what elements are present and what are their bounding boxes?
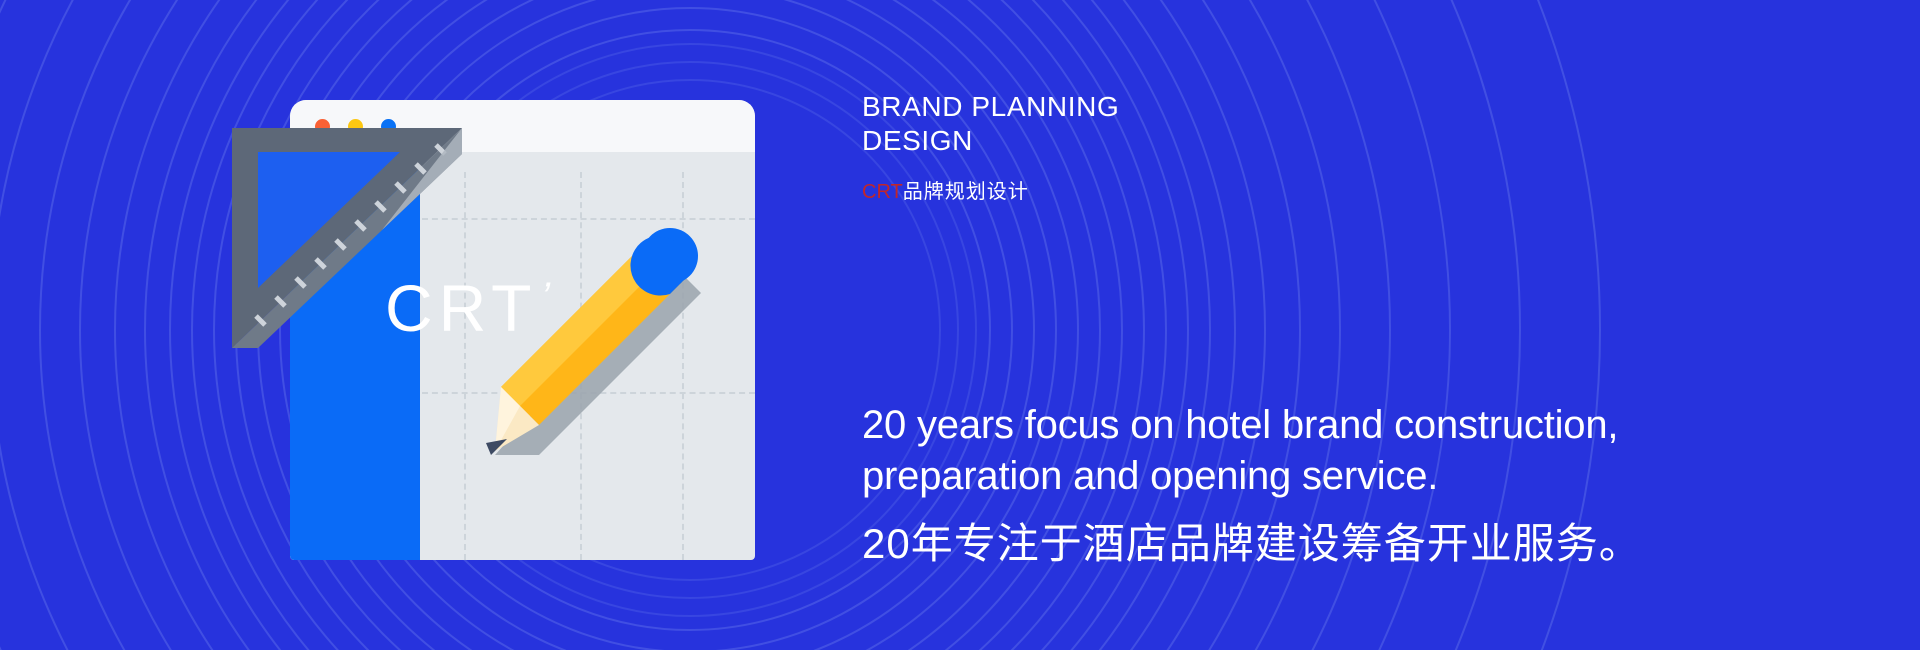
eyebrow-chinese-text: 品牌规划设计 <box>903 181 1029 203</box>
eyebrow-line-1: BRAND PLANNING <box>862 90 1292 124</box>
headline-line-1: 20 years focus on hotel brand constructi… <box>862 400 1692 451</box>
pencil-illustration <box>455 215 715 465</box>
headline-line-2: preparation and opening service. <box>862 451 1692 502</box>
set-square-ruler <box>232 128 462 348</box>
eyebrow-line-2: DESIGN <box>862 124 1292 158</box>
headline-chinese: 20年专注于酒店品牌建设筹备开业服务。 <box>862 510 1642 571</box>
eyebrow-brand-crt: CRT <box>862 181 903 203</box>
headline-english: 20 years focus on hotel brand constructi… <box>862 400 1692 502</box>
text-column: BRAND PLANNING DESIGN CRT品牌规划设计 20 years… <box>862 0 1920 650</box>
eyebrow-heading: BRAND PLANNING DESIGN <box>862 90 1292 158</box>
eyebrow-chinese: CRT品牌规划设计 <box>862 175 1029 204</box>
brand-banner: CRT’ <box>0 0 1920 650</box>
hero-illustration: CRT’ <box>0 0 860 650</box>
